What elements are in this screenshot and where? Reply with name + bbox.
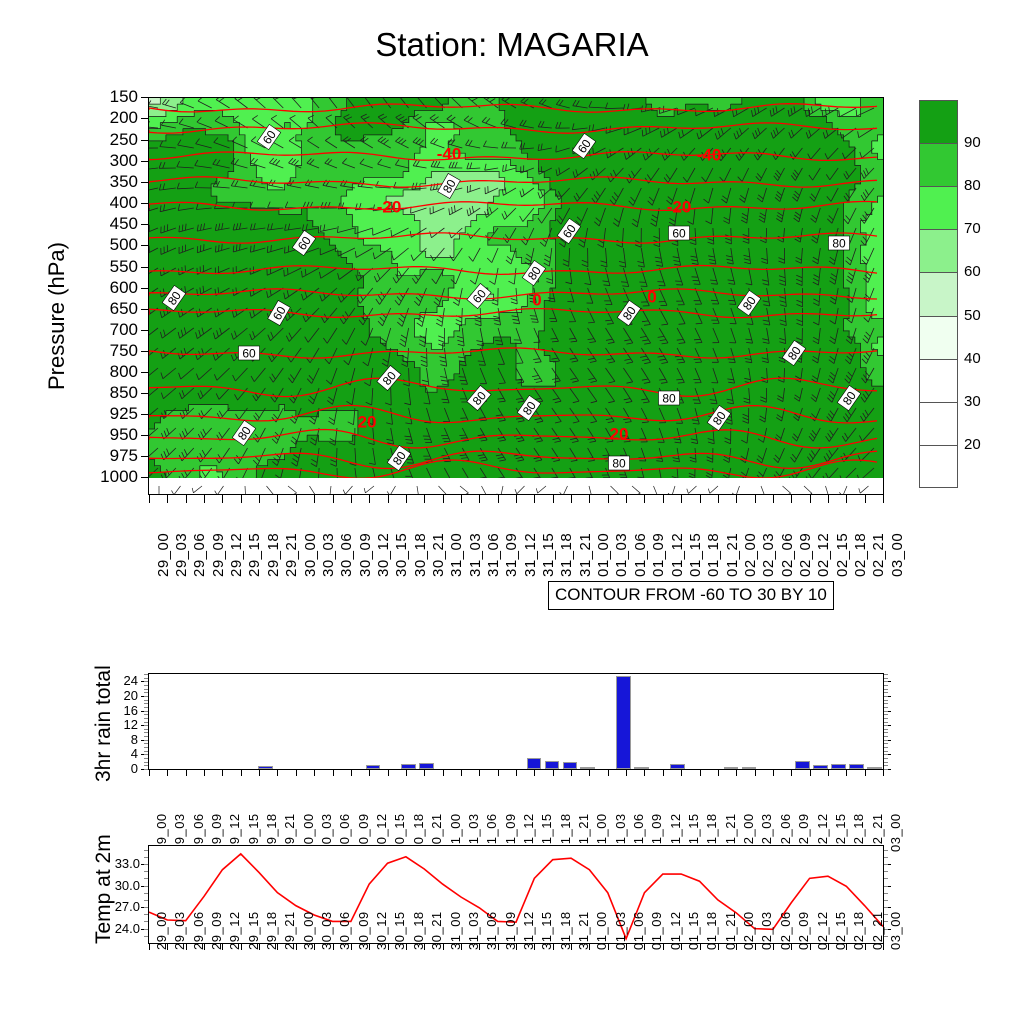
main-ytickmark: [141, 351, 148, 352]
xtick-label-01_09: 01_09: [650, 533, 667, 577]
xtickmark: [553, 495, 554, 503]
xtickmark: [608, 770, 609, 776]
main-ytick-400: 400: [72, 193, 138, 213]
colorbar-cell-5: [919, 316, 958, 359]
svg-text:0: 0: [532, 291, 541, 310]
rain-minor-tick-right: [884, 681, 888, 682]
main-ytickmark: [141, 414, 148, 415]
xtickmark: [553, 770, 554, 776]
xtickmark: [259, 770, 260, 776]
rain-minor-tick-right: [884, 729, 888, 730]
xtickmark: [406, 944, 407, 950]
xtickmark: [736, 770, 737, 776]
xtickmark: [608, 944, 609, 950]
xtickmark: [222, 770, 223, 776]
xtick-label-03_00: 03_00: [889, 533, 906, 577]
colorbar-label-90: 90: [964, 134, 981, 151]
main-ytickmark: [141, 288, 148, 289]
xtick-label-01_06: 01_06: [632, 533, 649, 577]
xtickmark: [663, 495, 664, 503]
main-ytickmark: [141, 372, 148, 373]
main-ytickmark: [141, 267, 148, 268]
xtickmark: [828, 495, 829, 503]
xtickmark: [810, 944, 811, 950]
colorbar-label-40: 40: [964, 350, 981, 367]
xtickmark: [204, 770, 205, 776]
rain-bar: [634, 767, 649, 769]
main-ytick-250: 250: [72, 130, 138, 150]
xtickmark: [222, 495, 223, 503]
xtickmark: [296, 944, 297, 950]
xtickmark: [241, 770, 242, 776]
xtickmark: [608, 495, 609, 503]
colorbar: [919, 100, 958, 488]
xtickmark: [681, 495, 682, 503]
xtickmark: [516, 944, 517, 950]
xtick-label-31_15: 31_15: [540, 533, 557, 577]
main-ytickmark: [141, 393, 148, 394]
colorbar-label-60: 60: [964, 263, 981, 280]
xtickmark: [736, 495, 737, 503]
temp-ytick-33: 33.0: [96, 856, 140, 871]
svg-text:20: 20: [610, 425, 629, 444]
main-ytick-500: 500: [72, 235, 138, 255]
main-ytickmark: [141, 182, 148, 183]
colorbar-label-20: 20: [964, 436, 981, 453]
rh-contour-label: 60: [239, 346, 260, 361]
xtickmark: [424, 944, 425, 950]
rain-minor-tick-right: [884, 740, 888, 741]
xtick-label-02_18: 02_18: [852, 533, 869, 577]
rain-minor-tick-right: [884, 751, 888, 752]
xtick-label-31_21: 31_21: [577, 533, 594, 577]
xtickmark: [443, 770, 444, 776]
rain-minor-tick-right: [884, 743, 888, 744]
rh-contour-label: 80: [659, 391, 680, 406]
xtickmark: [406, 495, 407, 503]
main-ytick-850: 850: [72, 383, 138, 403]
xtickmark: [846, 495, 847, 503]
rh-contour-label: 80: [829, 236, 850, 251]
xtickmark: [700, 944, 701, 950]
xtickmark: [186, 944, 187, 950]
rain-minor-tick-right: [884, 765, 888, 766]
xtick-label-01_03: 01_03: [613, 533, 630, 577]
xtickmark: [700, 770, 701, 776]
main-ytickmark: [141, 224, 148, 225]
xtickmark: [277, 495, 278, 503]
temp-ytick-24: 24.0: [96, 921, 140, 936]
main-ytick-200: 200: [72, 108, 138, 128]
xtick-label-31_00: 31_00: [448, 533, 465, 577]
temp-minor-tick-right: [884, 857, 888, 858]
xtickmark: [663, 944, 664, 950]
xtickmark: [865, 770, 866, 776]
xtick-label-02_00: 02_00: [742, 533, 759, 577]
xtickmark: [333, 770, 334, 776]
rain-ytick-24: 24: [104, 673, 138, 688]
xtickmark: [388, 495, 389, 503]
xtickmark: [424, 495, 425, 503]
xtickmark: [186, 770, 187, 776]
xtickmark: [883, 495, 884, 503]
xtickmark: [498, 944, 499, 950]
xtickmark: [351, 770, 352, 776]
xtick-label-03_00: 03_00: [888, 911, 903, 950]
rain-bar: [795, 761, 810, 769]
rain-minor-tick-right: [884, 747, 888, 748]
xtickmark: [810, 770, 811, 776]
rain-bar: [401, 764, 416, 769]
xtickmark: [351, 495, 352, 503]
xtick-label-29_03: 29_03: [173, 533, 190, 577]
rain-minor-tick-right: [884, 725, 888, 726]
xtickmark: [644, 495, 645, 503]
xtickmark: [351, 944, 352, 950]
rain-bar: [419, 763, 434, 769]
temp-minor-tick-right: [884, 850, 888, 851]
main-ytick-950: 950: [72, 425, 138, 445]
xtickmark: [534, 944, 535, 950]
xtick-label-31_09: 31_09: [503, 533, 520, 577]
rain-minor-tick-right: [884, 714, 888, 715]
temp-contour-label: 0: [532, 291, 541, 310]
xtickmark: [644, 770, 645, 776]
rain-bar: [545, 761, 560, 769]
rain-minor-tick-right: [884, 736, 888, 737]
temp-minor-tick-right: [884, 900, 888, 901]
xtickmark: [644, 944, 645, 950]
rain-minor-tick-right: [884, 696, 888, 697]
xtickmark: [296, 495, 297, 503]
colorbar-cell-7: [919, 402, 958, 445]
meteogram-page: Station: MAGARIA Pressure (hPa) 15020025…: [0, 0, 1024, 1024]
xtickmark: [755, 495, 756, 503]
xtick-label-30_15: 30_15: [393, 533, 410, 577]
xtickmark: [149, 770, 150, 776]
colorbar-label-50: 50: [964, 307, 981, 324]
xtick-label-30_00: 30_00: [302, 533, 319, 577]
temp-minor-tick-right: [884, 893, 888, 894]
xtickmark: [277, 944, 278, 950]
xtickmark: [773, 770, 774, 776]
rain-minor-tick-right: [884, 754, 888, 755]
temp-minor-tick-right: [884, 878, 888, 879]
xtickmark: [700, 495, 701, 503]
xtickmark: [369, 944, 370, 950]
temp-contour-label: -20: [667, 198, 692, 217]
rain-minor-tick-right: [884, 718, 888, 719]
svg-text:-40: -40: [437, 145, 462, 164]
rh-contour-label: 60: [669, 226, 690, 241]
main-ytickmark: [141, 435, 148, 436]
xtickmark: [773, 944, 774, 950]
temp-minor-tick-right: [884, 871, 888, 872]
xtick-label-29_00: 29_00: [155, 533, 172, 577]
xtickmark: [314, 770, 315, 776]
xtickmark: [388, 770, 389, 776]
colorbar-cell-2: [919, 186, 958, 229]
colorbar-cell-3: [919, 229, 958, 272]
xtickmark: [149, 944, 150, 950]
rain-bar: [849, 764, 864, 769]
main-ytick-350: 350: [72, 172, 138, 192]
temp-contour-label: 0: [647, 288, 656, 307]
xtickmark: [479, 495, 480, 503]
colorbar-cell-6: [919, 359, 958, 402]
xtickmark: [516, 495, 517, 503]
xtickmark: [534, 770, 535, 776]
main-yaxis-title: Pressure (hPa): [44, 242, 70, 390]
xtickmark: [755, 770, 756, 776]
xtickmark: [736, 944, 737, 950]
main-ytick-975: 975: [72, 446, 138, 466]
rain-minor-tick-right: [884, 722, 888, 723]
rain-bar: [616, 676, 631, 769]
xtickmark: [479, 770, 480, 776]
xtickmark: [589, 495, 590, 503]
xtickmark: [369, 770, 370, 776]
xtickmark: [681, 770, 682, 776]
xtickmark: [333, 495, 334, 503]
xtickmark: [222, 944, 223, 950]
xtickmark: [553, 944, 554, 950]
xtickmark: [424, 770, 425, 776]
main-ytickmark: [141, 309, 148, 310]
rain-ytick-8: 8: [104, 732, 138, 747]
xtick-label-01_12: 01_12: [669, 533, 686, 577]
temp-contour-label: -20: [377, 198, 402, 217]
svg-text:80: 80: [612, 457, 626, 471]
main-ytick-750: 750: [72, 341, 138, 361]
xtickmark: [846, 944, 847, 950]
main-ytick-300: 300: [72, 151, 138, 171]
xtickmark: [810, 495, 811, 503]
xtickmark: [498, 770, 499, 776]
rain-bar: [724, 767, 739, 769]
xtickmark: [333, 944, 334, 950]
xtickmark: [443, 944, 444, 950]
xtickmark: [461, 495, 462, 503]
xtickmark: [204, 495, 205, 503]
rain-ytick-16: 16: [104, 703, 138, 718]
xtick-label-31_18: 31_18: [558, 533, 575, 577]
xtickmark: [369, 495, 370, 503]
rain-bar: [813, 765, 828, 769]
main-ytick-800: 800: [72, 362, 138, 382]
xtick-label-30_12: 30_12: [375, 533, 392, 577]
colorbar-cell-0: [919, 100, 958, 143]
main-ytick-650: 650: [72, 299, 138, 319]
main-ytickmark: [141, 140, 148, 141]
xtick-label-30_03: 30_03: [320, 533, 337, 577]
xtickmark: [241, 944, 242, 950]
rain-bar: [867, 767, 882, 769]
svg-text:-20: -20: [377, 198, 402, 217]
xtickmark: [259, 495, 260, 503]
xtickmark: [534, 495, 535, 503]
rain-bar: [366, 765, 381, 769]
rain-minor-tick-right: [884, 732, 888, 733]
xtick-label-01_21: 01_21: [724, 533, 741, 577]
temp-minor-tick-right: [884, 864, 888, 865]
xtick-label-31_03: 31_03: [467, 533, 484, 577]
xtickmark: [791, 495, 792, 503]
xtickmark: [589, 770, 590, 776]
xtickmark: [204, 944, 205, 950]
rain-minor-tick-right: [884, 685, 888, 686]
xtickmark: [406, 770, 407, 776]
main-ytickmark: [141, 161, 148, 162]
xtick-label-29_12: 29_12: [228, 533, 245, 577]
rain-minor-tick-right: [884, 711, 888, 712]
upper-air-contour-plot: -40-40-20-200020206060806060606080808060…: [148, 97, 884, 495]
svg-text:80: 80: [832, 237, 846, 251]
main-ytickmark: [141, 97, 148, 98]
xtick-label-02_15: 02_15: [834, 533, 851, 577]
xtickmark: [461, 944, 462, 950]
xtickmark: [589, 944, 590, 950]
main-ytickmark: [141, 245, 148, 246]
colorbar-cell-8: [919, 445, 958, 488]
rain-bar-chart: [148, 673, 884, 770]
xtickmark: [626, 770, 627, 776]
xtickmark: [149, 495, 150, 503]
xtickmark: [259, 944, 260, 950]
xtick-label-02_21: 02_21: [870, 533, 887, 577]
xtickmark: [755, 944, 756, 950]
xtickmark: [865, 495, 866, 503]
main-ytickmark: [141, 203, 148, 204]
xtickmark: [314, 944, 315, 950]
main-ytick-925: 925: [72, 404, 138, 424]
temp-ytick-30: 30.0: [96, 878, 140, 893]
svg-text:20: 20: [358, 413, 377, 432]
main-ytick-1000: 1000: [72, 467, 138, 487]
xtickmark: [277, 770, 278, 776]
colorbar-cell-4: [919, 272, 958, 315]
xtick-label-01_00: 01_00: [595, 533, 612, 577]
temp-minor-tick-right: [884, 886, 888, 887]
xtick-label-01_18: 01_18: [705, 533, 722, 577]
rain-bar: [563, 762, 578, 769]
xtick-label-30_21: 30_21: [430, 533, 447, 577]
xtickmark: [828, 770, 829, 776]
rain-minor-tick-right: [884, 769, 888, 770]
xtick-label-02_12: 02_12: [815, 533, 832, 577]
xtick-label-01_15: 01_15: [687, 533, 704, 577]
main-ytickmark: [141, 118, 148, 119]
xtick-label-02_03: 02_03: [760, 533, 777, 577]
xtickmark: [626, 944, 627, 950]
svg-text:60: 60: [242, 347, 256, 361]
xtickmark: [718, 495, 719, 503]
xtickmark: [846, 770, 847, 776]
rain-ytick-4: 4: [104, 746, 138, 761]
rain-minor-tick-right: [884, 689, 888, 690]
xtick-label-02_06: 02_06: [779, 533, 796, 577]
xtickmark: [167, 495, 168, 503]
xtickmark: [479, 944, 480, 950]
temp-ytick-27: 27.0: [96, 899, 140, 914]
rain-minor-tick-right: [884, 703, 888, 704]
xtickmark: [828, 944, 829, 950]
main-ytick-700: 700: [72, 320, 138, 340]
rain-bar: [527, 758, 542, 769]
rain-bar: [580, 767, 595, 769]
rain-minor-tick-right: [884, 692, 888, 693]
svg-text:0: 0: [647, 288, 656, 307]
temp-minor-tick-right: [884, 907, 888, 908]
page-title: Station: MAGARIA: [0, 26, 1024, 64]
xtick-label-29_18: 29_18: [265, 533, 282, 577]
main-ytick-450: 450: [72, 214, 138, 234]
main-ytick-150: 150: [72, 87, 138, 107]
xtick-label-29_21: 29_21: [283, 533, 300, 577]
xtickmark: [296, 770, 297, 776]
xtickmark: [186, 495, 187, 503]
colorbar-label-30: 30: [964, 393, 981, 410]
xtick-label-29_09: 29_09: [210, 533, 227, 577]
xtick-label-03_00: 03_00: [888, 813, 903, 852]
rain-bar: [258, 766, 273, 769]
rain-ytick-20: 20: [104, 688, 138, 703]
xtickmark: [241, 495, 242, 503]
xtick-label-31_06: 31_06: [485, 533, 502, 577]
rain-minor-tick-right: [884, 707, 888, 708]
xtickmark: [516, 770, 517, 776]
xtickmark: [388, 944, 389, 950]
main-ytickmark: [141, 456, 148, 457]
main-ytick-600: 600: [72, 278, 138, 298]
xtickmark: [718, 770, 719, 776]
colorbar-cell-1: [919, 143, 958, 186]
xtickmark: [773, 495, 774, 503]
xtick-label-30_06: 30_06: [338, 533, 355, 577]
xtickmark: [167, 944, 168, 950]
xtickmark: [167, 770, 168, 776]
rain-ytick-0: 0: [104, 761, 138, 776]
colorbar-label-80: 80: [964, 177, 981, 194]
xtickmark: [791, 944, 792, 950]
xtickmark: [443, 495, 444, 503]
colorbar-label-70: 70: [964, 220, 981, 237]
xtick-label-02_09: 02_09: [797, 533, 814, 577]
xtickmark: [791, 770, 792, 776]
rain-minor-tick-right: [884, 758, 888, 759]
svg-text:80: 80: [662, 392, 676, 406]
rain-bar: [742, 767, 757, 769]
rain-bar: [831, 764, 846, 769]
xtick-label-29_15: 29_15: [246, 533, 263, 577]
xtickmark: [883, 944, 884, 950]
rain-minor-tick-right: [884, 762, 888, 763]
main-ytick-550: 550: [72, 257, 138, 277]
xtickmark: [883, 770, 884, 776]
rain-minor-tick-right: [884, 700, 888, 701]
rh-contour-label: 80: [609, 456, 630, 471]
rain-minor-tick-right: [884, 674, 888, 675]
contour-note: CONTOUR FROM -60 TO 30 BY 10: [548, 581, 834, 610]
xtickmark: [571, 944, 572, 950]
xtickmark: [626, 495, 627, 503]
xtick-label-30_09: 30_09: [357, 533, 374, 577]
main-ytickmark: [141, 330, 148, 331]
xtickmark: [865, 944, 866, 950]
svg-text:-20: -20: [667, 198, 692, 217]
temp-contour-label: 20: [358, 413, 377, 432]
temp-contour-label: -40: [697, 146, 722, 165]
